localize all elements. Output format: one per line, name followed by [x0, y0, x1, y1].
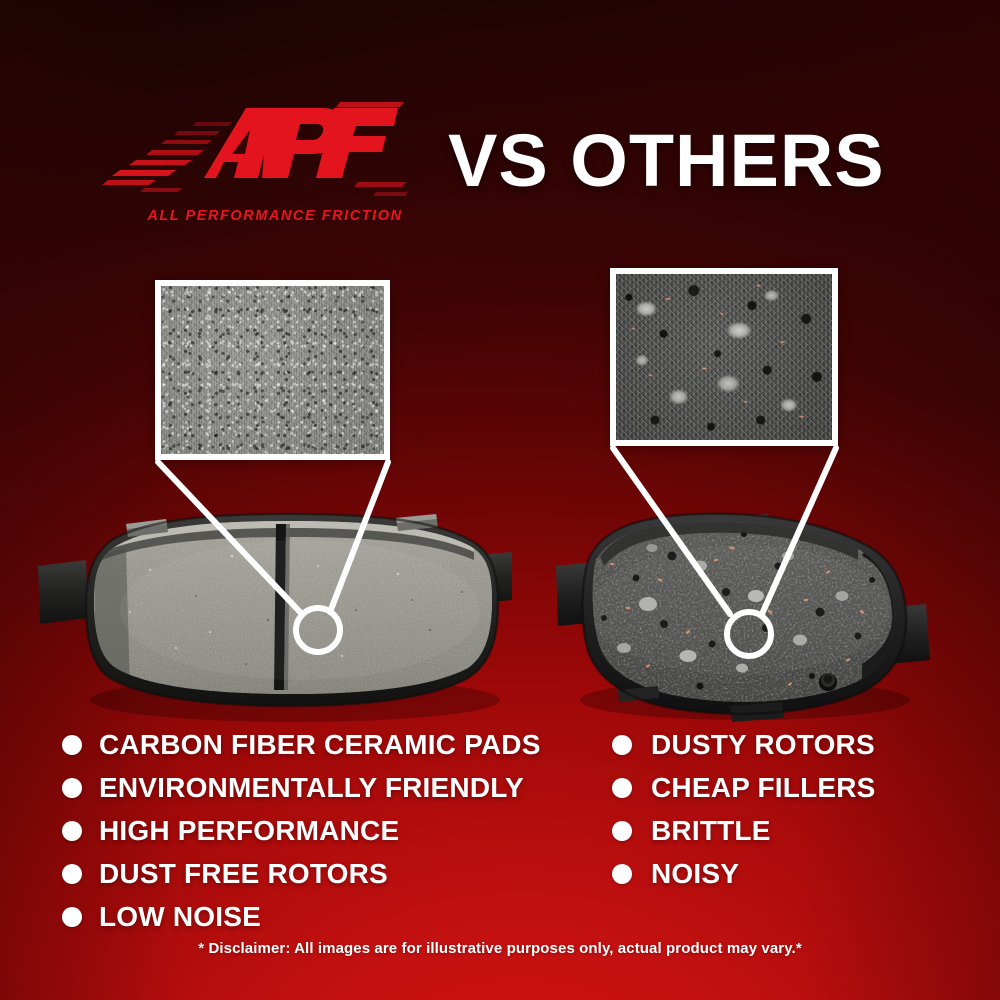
list-item: NOISY [612, 852, 942, 895]
feature-label: ENVIRONMENTALLY FRIENDLY [99, 774, 524, 802]
feature-list-apf: CARBON FIBER CERAMIC PADS ENVIRONMENTALL… [62, 723, 562, 938]
bullet-dot-icon [62, 735, 82, 755]
bullet-dot-icon [612, 821, 632, 841]
list-item: HIGH PERFORMANCE [62, 809, 562, 852]
disclaimer-text: * Disclaimer: All images are for illustr… [0, 940, 1000, 957]
list-item: ENVIRONMENTALLY FRIENDLY [62, 766, 562, 809]
feature-label: NOISY [651, 860, 739, 888]
bullet-dot-icon [612, 778, 632, 798]
list-item: BRITTLE [612, 809, 942, 852]
feature-label: CARBON FIBER CERAMIC PADS [99, 731, 541, 759]
feature-label: DUSTY ROTORS [651, 731, 875, 759]
bullet-dot-icon [62, 821, 82, 841]
feature-label: DUST FREE ROTORS [99, 860, 388, 888]
brake-pad-others [556, 505, 930, 733]
list-item: DUSTY ROTORS [612, 723, 942, 766]
feature-list-others: DUSTY ROTORS CHEAP FILLERS BRITTLE NOISY [612, 723, 942, 895]
bullet-dot-icon [62, 864, 82, 884]
list-item: LOW NOISE [62, 895, 562, 938]
list-item: CHEAP FILLERS [612, 766, 942, 809]
brake-pad-apf [38, 505, 512, 722]
bullet-dot-icon [612, 735, 632, 755]
list-item: CARBON FIBER CERAMIC PADS [62, 723, 562, 766]
bullet-dot-icon [62, 778, 82, 798]
feature-label: LOW NOISE [99, 903, 261, 931]
feature-label: BRITTLE [651, 817, 771, 845]
bullet-dot-icon [612, 864, 632, 884]
list-item: DUST FREE ROTORS [62, 852, 562, 895]
comparison-infographic: ALL PERFORMANCE FRICTION VS OTHERS [0, 0, 1000, 1000]
feature-label: HIGH PERFORMANCE [99, 817, 399, 845]
feature-label: CHEAP FILLERS [651, 774, 876, 802]
bullet-dot-icon [62, 907, 82, 927]
